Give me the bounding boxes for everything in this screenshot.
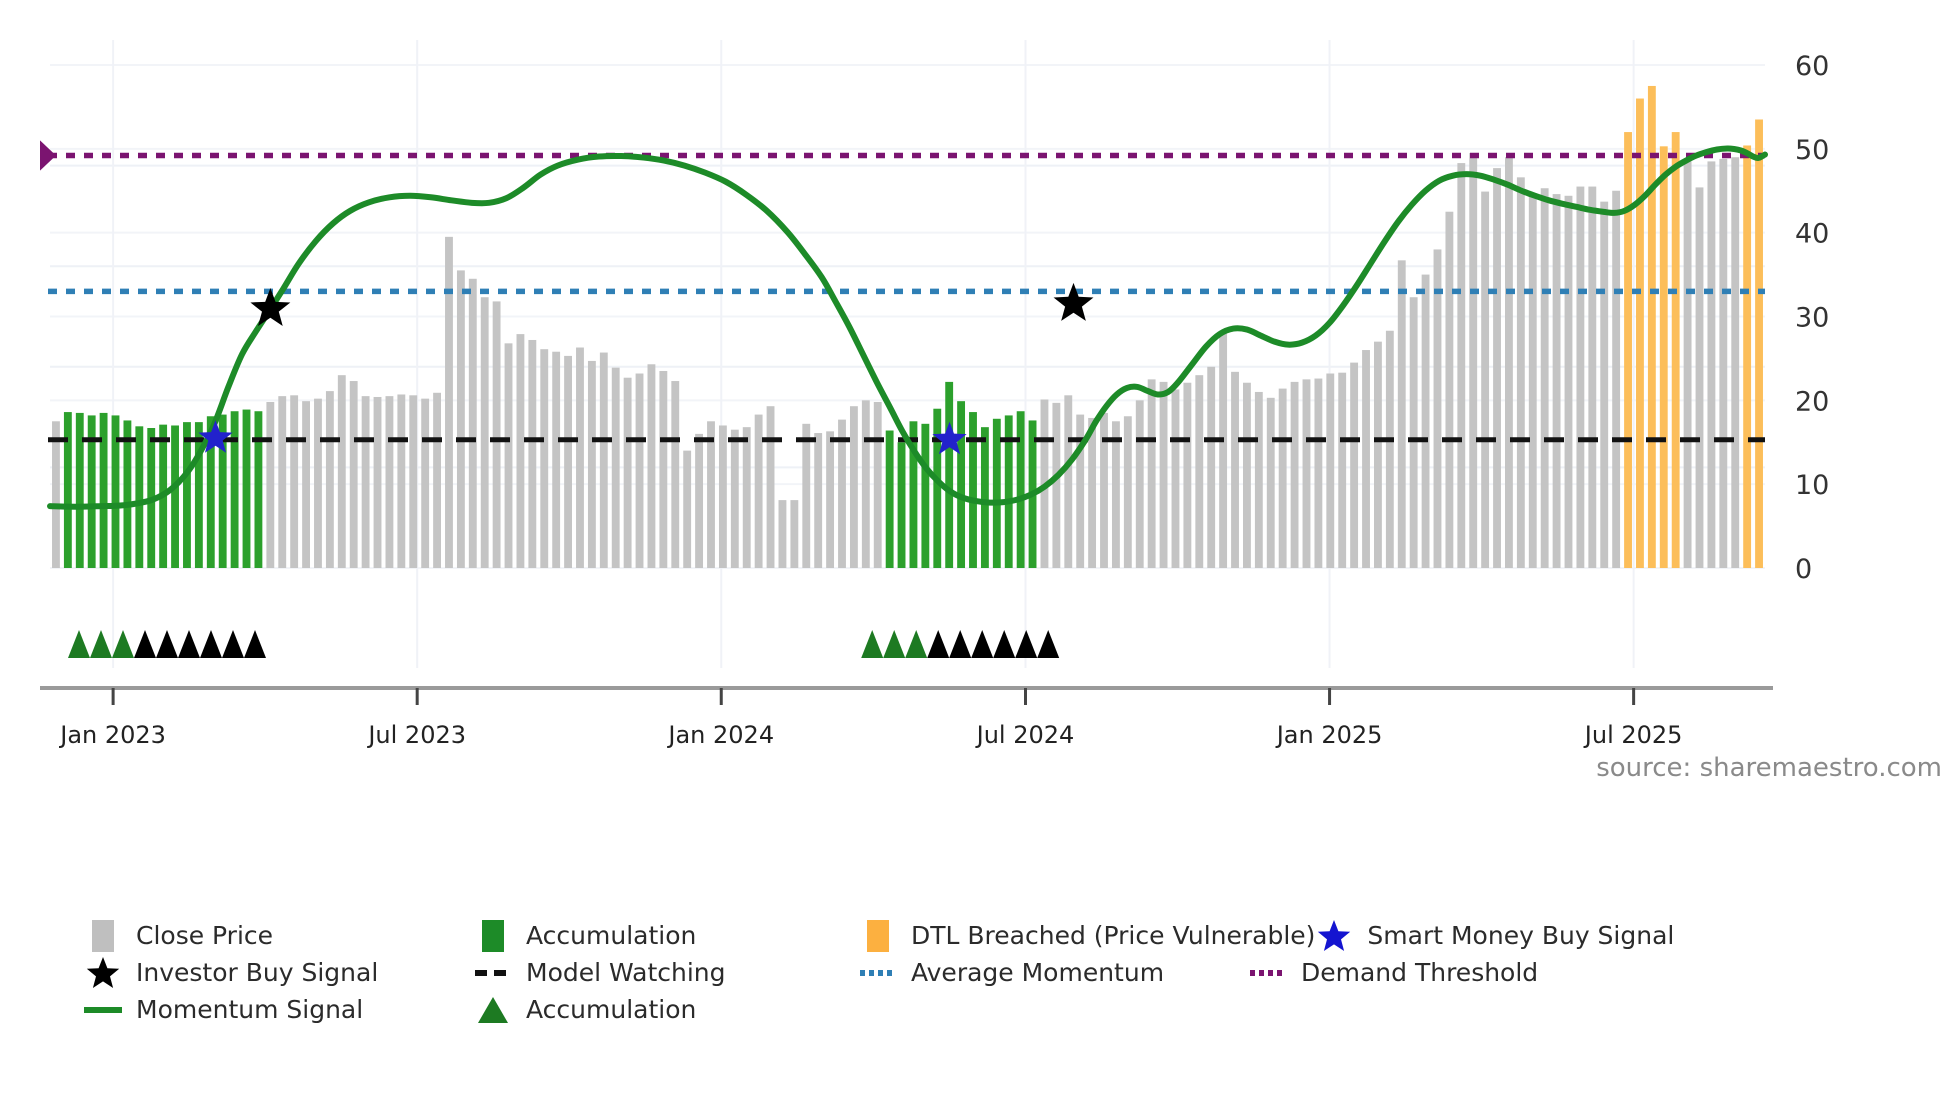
price-bar	[528, 340, 536, 568]
price-bar	[1386, 331, 1394, 568]
svg-text:Jan 2023: Jan 2023	[58, 721, 166, 749]
price-bar	[1541, 188, 1549, 568]
legend-item-investor-buy[interactable]: Investor Buy Signal	[84, 957, 474, 988]
dtl-breached-swatch-icon	[859, 920, 897, 952]
blue-star-icon	[1315, 918, 1353, 954]
price-bar	[790, 500, 798, 568]
price-bar	[1600, 202, 1608, 568]
price-bar	[886, 431, 894, 568]
chart-root: 00.20.40.60.810102030405060Jan 2023Jul 2…	[0, 0, 1960, 1102]
price-bar	[957, 401, 965, 568]
price-bar	[576, 348, 584, 568]
svg-text:40: 40	[1795, 219, 1829, 250]
price-bar	[624, 378, 632, 568]
price-bar	[421, 399, 429, 568]
accumulation-triangle-icon	[244, 630, 266, 658]
price-bar	[779, 500, 787, 568]
price-bar	[1314, 379, 1322, 568]
black-star-icon	[84, 955, 122, 991]
price-bar	[933, 409, 941, 568]
price-bar	[1505, 157, 1513, 568]
accumulation-triangle-icon	[112, 630, 134, 658]
price-bar	[874, 402, 882, 568]
price-bar	[1052, 403, 1060, 568]
price-bar	[433, 393, 441, 568]
price-bar	[719, 425, 727, 568]
price-bar	[1588, 187, 1596, 568]
close-price-swatch-icon	[84, 920, 122, 952]
price-bar	[1279, 389, 1287, 568]
demand-threshold-diamond-icon	[40, 139, 56, 173]
svg-text:10: 10	[1795, 470, 1829, 501]
legend-item-accumulation-bar[interactable]: Accumulation	[474, 920, 859, 951]
price-bar	[1422, 275, 1430, 568]
svg-text:Jan 2024: Jan 2024	[666, 721, 774, 749]
price-bar	[731, 430, 739, 568]
accumulation-triangle-icon	[178, 630, 200, 658]
price-bar	[1743, 145, 1751, 568]
price-bar	[743, 427, 751, 568]
accumulation-triangle-icon	[905, 630, 927, 658]
price-bar	[1303, 379, 1311, 568]
price-bar	[612, 368, 620, 568]
price-bar	[290, 395, 298, 568]
price-bar	[850, 406, 858, 568]
price-bar	[1410, 297, 1418, 568]
price-bar	[1457, 163, 1465, 568]
price-bar	[254, 411, 262, 568]
price-bar	[755, 415, 763, 568]
svg-text:Jul 2025: Jul 2025	[1583, 721, 1683, 749]
dotted-line-purple-icon	[1249, 968, 1287, 978]
legend-item-dtl-breached[interactable]: DTL Breached (Price Vulnerable)	[859, 920, 1315, 951]
price-bar	[1612, 191, 1620, 568]
accumulation-triangle-icon	[90, 630, 112, 658]
price-bar	[1565, 196, 1573, 568]
price-bar	[171, 425, 179, 568]
price-bar	[374, 397, 382, 568]
price-bar	[445, 237, 453, 568]
svg-text:Jul 2024: Jul 2024	[975, 721, 1075, 749]
price-bar	[1267, 398, 1275, 568]
price-bar	[802, 424, 810, 568]
legend-item-average-momentum[interactable]: Average Momentum	[859, 957, 1249, 988]
price-bar	[659, 371, 667, 568]
price-bar	[1219, 331, 1227, 568]
price-bar	[1231, 372, 1239, 568]
price-bar	[945, 382, 953, 568]
price-bar	[52, 421, 60, 568]
price-bar	[1660, 146, 1668, 568]
accumulation-triangle-icon	[927, 630, 949, 658]
price-bar	[1755, 119, 1763, 568]
price-bar	[898, 442, 906, 568]
accumulation-triangle-icon	[883, 630, 905, 658]
price-bar	[183, 422, 191, 568]
legend-label: Investor Buy Signal	[136, 958, 378, 987]
legend-item-smart-money-buy[interactable]: Smart Money Buy Signal	[1315, 920, 1674, 951]
price-bar	[397, 394, 405, 568]
price-bar	[648, 364, 656, 568]
chart-legend: Close Price Accumulation DTL Breached (P…	[84, 920, 1934, 1031]
legend-label: DTL Breached (Price Vulnerable)	[911, 921, 1315, 950]
price-bar	[76, 413, 84, 568]
price-bar	[409, 395, 417, 568]
legend-item-momentum-signal[interactable]: Momentum Signal	[84, 994, 474, 1025]
price-bar	[1719, 159, 1727, 568]
svg-text:Jan 2025: Jan 2025	[1275, 721, 1383, 749]
price-bar	[362, 396, 370, 568]
price-bar	[1255, 392, 1263, 568]
price-bar	[100, 413, 108, 568]
price-bar	[1172, 389, 1180, 568]
price-bar	[1636, 99, 1644, 568]
accumulation-triangle-icon	[222, 630, 244, 658]
price-bar	[1088, 418, 1096, 568]
price-bar	[1731, 157, 1739, 568]
price-bar	[564, 356, 572, 568]
svg-text:0: 0	[1795, 554, 1812, 585]
price-bar	[457, 270, 465, 568]
price-bar	[1291, 382, 1299, 568]
price-bar	[1398, 260, 1406, 568]
price-bar	[64, 412, 72, 568]
price-bar	[1160, 382, 1168, 568]
legend-item-accumulation-triangle[interactable]: Accumulation	[474, 994, 859, 1025]
price-bar	[1338, 373, 1346, 568]
price-bar	[338, 375, 346, 568]
price-bar	[1434, 249, 1442, 568]
legend-label: Accumulation	[526, 995, 696, 1024]
price-bar	[326, 391, 334, 568]
legend-label: Momentum Signal	[136, 995, 363, 1024]
price-bar	[695, 434, 703, 568]
dashed-line-icon	[474, 968, 512, 978]
price-bar	[1624, 132, 1632, 568]
price-bar	[1148, 379, 1156, 568]
accumulation-triangle-icon	[68, 630, 90, 658]
accumulation-triangle-icon	[156, 630, 178, 658]
svg-text:50: 50	[1795, 135, 1829, 166]
price-bar	[1017, 411, 1025, 568]
price-bar	[1124, 416, 1132, 568]
price-bar	[1136, 400, 1144, 568]
accumulation-triangle-icon	[861, 630, 883, 658]
price-bar	[481, 297, 489, 568]
price-bar	[921, 424, 929, 568]
svg-text:Jul 2023: Jul 2023	[366, 721, 466, 749]
svg-text:20: 20	[1795, 386, 1829, 417]
price-bar	[1553, 194, 1561, 568]
price-bar	[1362, 350, 1370, 568]
price-bar	[552, 352, 560, 568]
green-triangle-icon	[474, 995, 512, 1025]
price-bar	[135, 426, 143, 568]
price-bar	[1469, 153, 1477, 568]
price-bar	[1493, 168, 1501, 568]
legend-item-model-watching[interactable]: Model Watching	[474, 957, 859, 988]
accumulation-triangle-icon	[134, 630, 156, 658]
price-bar	[350, 381, 358, 568]
price-bar	[1064, 395, 1072, 568]
source-attribution: source: sharemaestro.com	[1596, 753, 1942, 783]
price-bar	[826, 431, 834, 568]
price-bar	[671, 381, 679, 568]
price-bar	[540, 349, 548, 568]
price-bar	[1696, 187, 1704, 568]
price-bar	[969, 412, 977, 568]
price-bar	[302, 401, 310, 568]
price-bar	[493, 301, 501, 568]
legend-label: Accumulation	[526, 921, 696, 950]
legend-label: Close Price	[136, 921, 273, 950]
legend-label: Demand Threshold	[1301, 958, 1538, 987]
price-bar	[1207, 367, 1215, 568]
price-bar	[231, 411, 239, 568]
accumulation-swatch-icon	[474, 920, 512, 952]
legend-row-1: Close Price Accumulation DTL Breached (P…	[84, 920, 1934, 951]
price-bar	[1243, 383, 1251, 568]
price-bar	[600, 353, 608, 568]
svg-text:60: 60	[1795, 51, 1829, 82]
price-bar	[1707, 161, 1715, 568]
legend-row-2: Investor Buy Signal Model Watching Avera…	[84, 957, 1934, 988]
price-bar	[1183, 383, 1191, 568]
price-bar	[707, 421, 715, 568]
price-bar	[469, 279, 477, 568]
price-bar	[767, 406, 775, 568]
price-bar	[1374, 342, 1382, 568]
accumulation-triangle-icon	[971, 630, 993, 658]
price-bar	[588, 361, 596, 568]
accumulation-triangle-icon	[993, 630, 1015, 658]
legend-label: Model Watching	[526, 958, 726, 987]
price-bar	[1517, 177, 1525, 568]
legend-label: Smart Money Buy Signal	[1367, 921, 1674, 950]
accumulation-triangle-icon	[949, 630, 971, 658]
svg-text:30: 30	[1795, 303, 1829, 334]
price-bar	[981, 427, 989, 568]
legend-item-demand-threshold[interactable]: Demand Threshold	[1249, 957, 1538, 988]
price-bar	[1576, 187, 1584, 568]
price-bar	[123, 420, 131, 568]
price-bar	[814, 433, 822, 568]
legend-item-close-price[interactable]: Close Price	[84, 920, 474, 951]
price-bar	[314, 399, 322, 568]
accumulation-triangle-icon	[200, 630, 222, 658]
price-bar	[1195, 375, 1203, 568]
accumulation-triangle-icon	[1015, 630, 1037, 658]
price-bar	[505, 343, 513, 568]
legend-label: Average Momentum	[911, 958, 1164, 987]
price-bar	[993, 419, 1001, 568]
accumulation-triangle-icon	[1037, 630, 1059, 658]
price-bar	[266, 402, 274, 568]
price-bar	[1350, 363, 1358, 568]
price-bar	[386, 396, 394, 568]
price-bar	[243, 410, 251, 568]
price-bar	[1445, 212, 1453, 568]
price-bar	[278, 396, 286, 568]
solid-line-green-icon	[84, 1007, 122, 1013]
legend-spacer-a	[859, 994, 1249, 1025]
price-bar	[1684, 161, 1692, 568]
price-bar	[1326, 374, 1334, 568]
price-bar	[683, 451, 691, 568]
chart-plot-area: 00.20.40.60.810102030405060Jan 2023Jul 2…	[40, 40, 1840, 830]
price-bar	[1112, 421, 1120, 568]
price-bar	[1481, 192, 1489, 568]
legend-row-3: Momentum Signal Accumulation	[84, 994, 1934, 1025]
dotted-line-blue-icon	[859, 968, 897, 978]
price-bar	[636, 374, 644, 568]
price-bar	[1672, 132, 1680, 568]
price-bar	[1100, 413, 1108, 568]
chart-svg: 00.20.40.60.810102030405060Jan 2023Jul 2…	[40, 40, 1840, 830]
price-bar	[862, 400, 870, 568]
price-bar	[1529, 195, 1537, 568]
price-bar	[517, 334, 525, 568]
